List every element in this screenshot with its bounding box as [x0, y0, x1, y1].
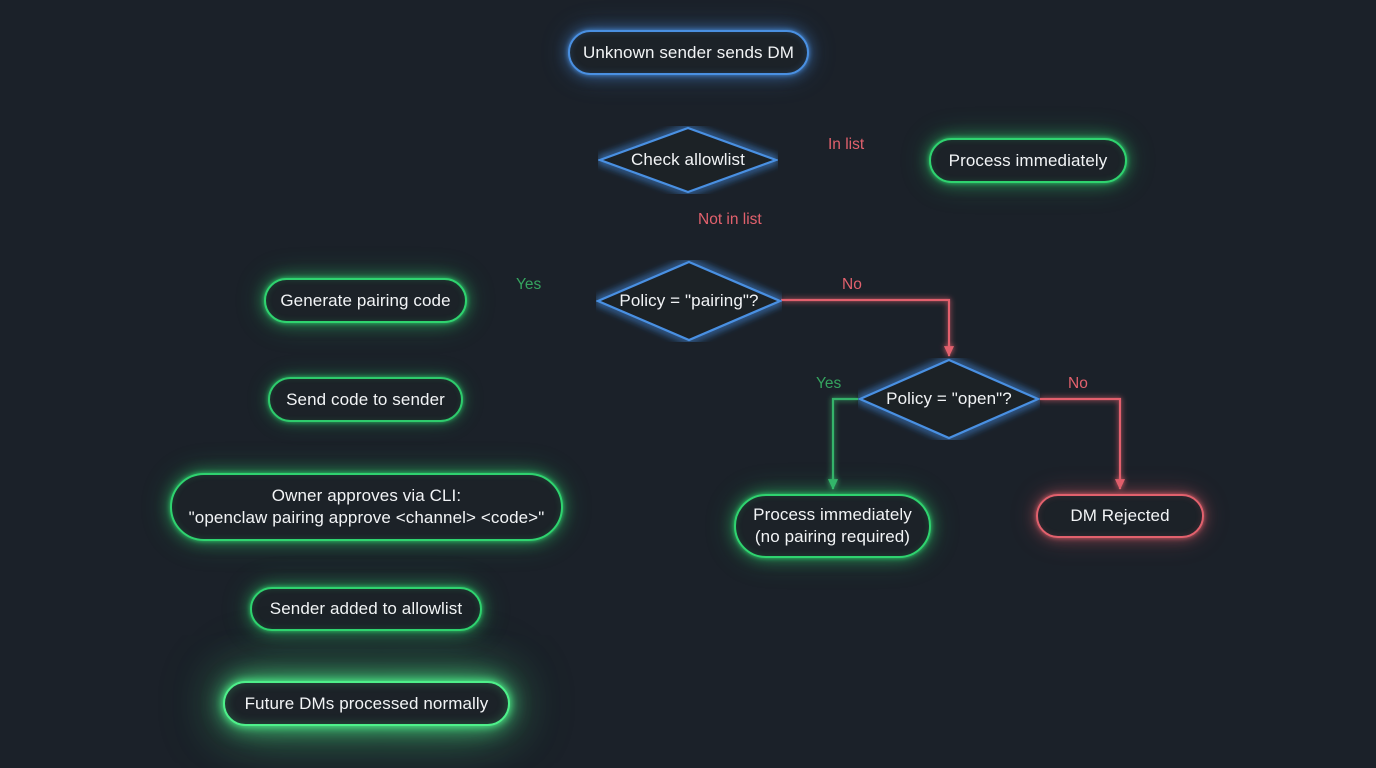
edge-pairing-no-to-policy-open: [781, 300, 949, 356]
edge-label-in-list: In list: [828, 136, 864, 154]
node-policy-pairing[interactable]: Policy = "pairing"?: [596, 260, 782, 342]
node-sender-added-to-allowlist[interactable]: Sender added to allowlist: [250, 587, 482, 631]
node-future-dms-processed-normally[interactable]: Future DMs processed normally: [223, 681, 510, 726]
node-dm-rejected[interactable]: DM Rejected: [1036, 494, 1204, 538]
edge-label-pairing-yes: Yes: [516, 276, 541, 294]
node-future-dms-processed-normally-label: Future DMs processed normally: [245, 693, 489, 715]
node-start[interactable]: Unknown sender sends DM: [568, 30, 809, 75]
node-send-code-to-sender[interactable]: Send code to sender: [268, 377, 463, 422]
flowchart-canvas: In list Not in list Yes No Yes No Check …: [0, 0, 1376, 768]
node-process-immediately[interactable]: Process immediately: [929, 138, 1127, 183]
edge-label-not-in-list: Not in list: [698, 211, 762, 229]
node-process-immediately-no-pairing[interactable]: Process immediately (no pairing required…: [734, 494, 931, 558]
node-generate-pairing-code-label: Generate pairing code: [280, 290, 450, 312]
edge-open-yes-to-process-no-pairing: [833, 399, 858, 489]
node-send-code-to-sender-label: Send code to sender: [286, 389, 445, 411]
node-policy-pairing-label: Policy = "pairing"?: [596, 260, 782, 342]
edge-label-open-yes: Yes: [816, 375, 841, 393]
node-check-allowlist[interactable]: Check allowlist: [598, 126, 778, 194]
node-start-label: Unknown sender sends DM: [583, 42, 794, 64]
node-owner-approves-via-cli-label: Owner approves via CLI: "openclaw pairin…: [189, 485, 545, 529]
node-owner-approves-via-cli[interactable]: Owner approves via CLI: "openclaw pairin…: [170, 473, 563, 541]
flowchart-edges: [0, 0, 1376, 768]
edge-open-no-to-dm-rejected: [1040, 399, 1120, 489]
node-process-immediately-no-pairing-label: Process immediately (no pairing required…: [753, 504, 912, 548]
edge-label-pairing-no: No: [842, 276, 862, 294]
node-policy-open[interactable]: Policy = "open"?: [858, 358, 1040, 440]
node-check-allowlist-label: Check allowlist: [598, 126, 778, 194]
node-dm-rejected-label: DM Rejected: [1070, 505, 1169, 527]
node-policy-open-label: Policy = "open"?: [858, 358, 1040, 440]
node-sender-added-to-allowlist-label: Sender added to allowlist: [270, 598, 462, 620]
edge-label-open-no: No: [1068, 375, 1088, 393]
node-generate-pairing-code[interactable]: Generate pairing code: [264, 278, 467, 323]
node-process-immediately-label: Process immediately: [949, 150, 1108, 172]
